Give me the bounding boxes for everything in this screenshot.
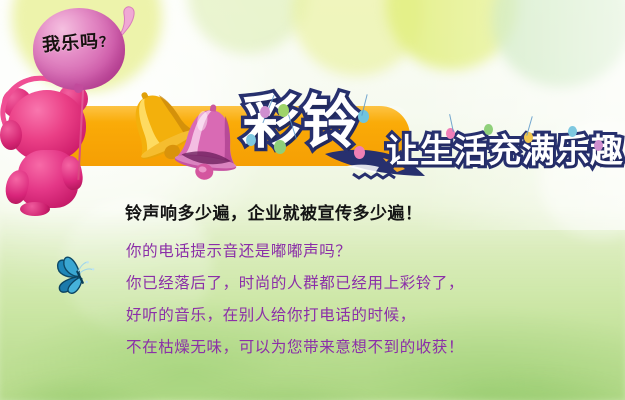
mini-balloon-6 — [354, 146, 365, 159]
mini-balloon-5 — [358, 110, 369, 123]
butterfly-icon — [48, 250, 104, 300]
bear-mascot-icon — [0, 78, 108, 213]
body-line-3: 好听的音乐，在别人给你打电话的时候， — [126, 299, 596, 331]
mini-balloon-7 — [446, 128, 455, 139]
body-line-1: 你的电话提示音还是嘟嘟声吗？ — [126, 235, 596, 267]
balloon-caption-text: 我乐吗 — [41, 31, 99, 56]
page-subtitle: 让生活充满乐趣 — [386, 132, 624, 170]
bear-foot — [20, 202, 50, 216]
promo-poster: 我乐吗？ — [0, 0, 625, 400]
title-block: 彩铃 让生活充满乐趣 — [238, 88, 625, 183]
mini-balloon-8 — [484, 124, 493, 135]
body-line-2: 你已经落后了，时尚的人群都已经用上彩铃了， — [126, 267, 596, 299]
mini-balloon-10 — [568, 126, 577, 137]
balloon-caption-question: ？ — [99, 34, 115, 51]
mini-balloon-4 — [246, 134, 256, 146]
page-title: 彩铃 — [242, 90, 362, 154]
mini-balloon-3 — [274, 140, 286, 154]
headphone-earcup-icon — [0, 120, 22, 150]
mini-balloon-9 — [524, 132, 533, 143]
body-copy: 你的电话提示音还是嘟嘟声吗？ 你已经落后了，时尚的人群都已经用上彩铃了， 好听的… — [126, 235, 596, 363]
mini-balloon-11 — [594, 140, 603, 151]
mini-balloon-1 — [260, 106, 270, 118]
headline-text: 铃声响多少遍，企业就被宣传多少遍！ — [125, 199, 423, 224]
body-line-4: 不在枯燥无味，可以为您带来意想不到的收获！ — [126, 331, 596, 363]
